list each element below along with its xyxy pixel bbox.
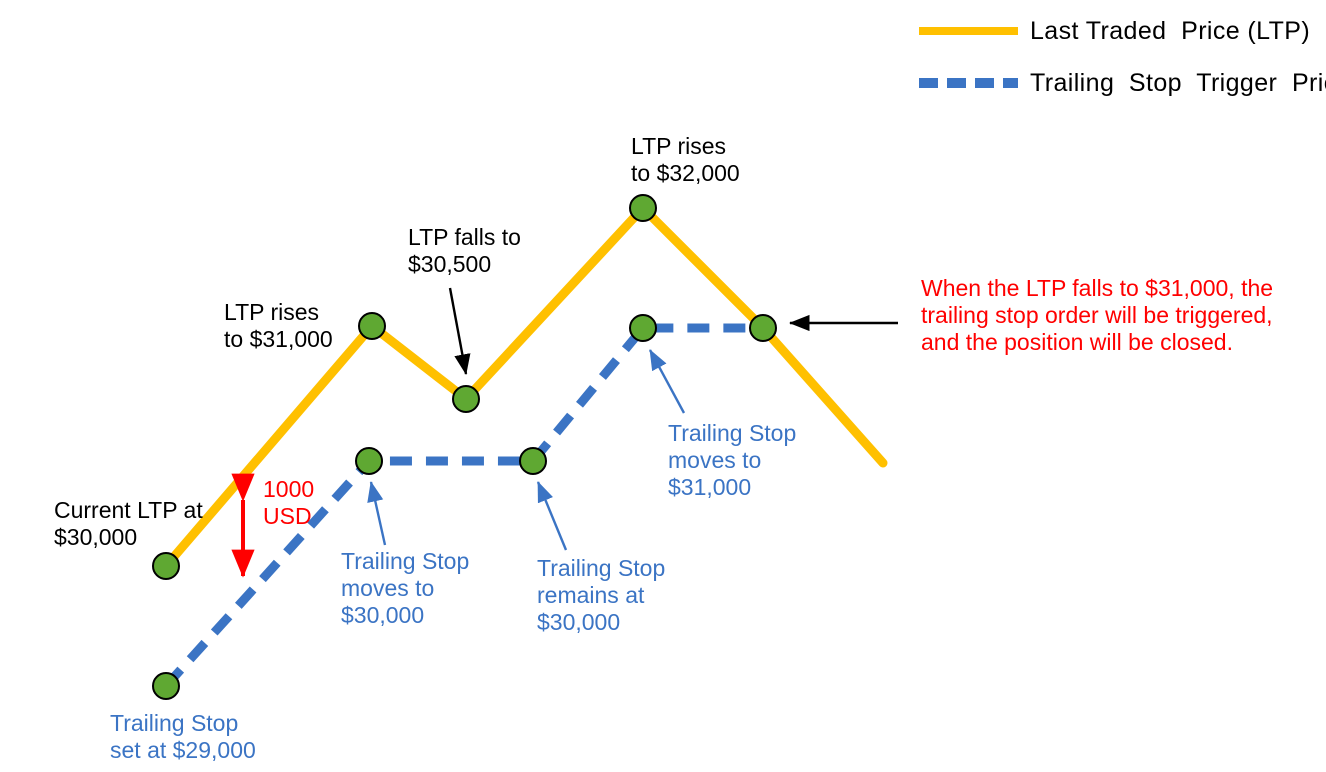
- annotation-ltp-rises-32000: LTP rises to $32,000: [631, 133, 740, 187]
- annotation-offset-amount: 1000 USD: [263, 476, 314, 530]
- annotation-ts-remains-30000: Trailing Stop remains at $30,000: [537, 555, 665, 636]
- annotation-current-ltp: Current LTP at $30,000: [54, 497, 203, 551]
- ltp-marker: [630, 195, 656, 221]
- annotation-trailing-stop-initial: Trailing Stop set at $29,000: [110, 710, 256, 764]
- trailing-stop-marker: [630, 315, 656, 341]
- trailing-stop-marker: [153, 673, 179, 699]
- legend-label-ltp: Last Traded Price (LTP): [1030, 17, 1310, 46]
- diagram-canvas: [0, 0, 1326, 772]
- trailing-stop-marker: [356, 448, 382, 474]
- legend-label-trailing-stop: Trailing Stop Trigger Price: [1030, 69, 1326, 98]
- trailing-stop-line: [166, 328, 763, 686]
- trailing-stop-marker: [520, 448, 546, 474]
- ltp-marker: [359, 313, 385, 339]
- trailing-stop-marker: [750, 315, 776, 341]
- annotation-ltp-falls-30500: LTP falls to $30,500: [408, 224, 521, 278]
- annotation-ts-moves-31000: Trailing Stop moves to $31,000: [668, 420, 796, 501]
- ts-moves-31000-leader-arrow: [650, 350, 684, 413]
- ts-remains-30000-leader-arrow: [538, 482, 566, 550]
- annotation-ts-moves-30000: Trailing Stop moves to $30,000: [341, 548, 469, 629]
- ltp-marker: [153, 553, 179, 579]
- ltp-marker: [453, 386, 479, 412]
- annotation-trigger-explanation: When the LTP falls to $31,000, the trail…: [921, 275, 1273, 356]
- trailing-stop-diagram: Last Traded Price (LTP) Trailing Stop Tr…: [0, 0, 1326, 772]
- ltp-falls-leader-arrow: [450, 288, 466, 374]
- annotation-ltp-rises-31000: LTP rises to $31,000: [224, 299, 333, 353]
- ts-moves-30000-leader-arrow: [371, 482, 385, 545]
